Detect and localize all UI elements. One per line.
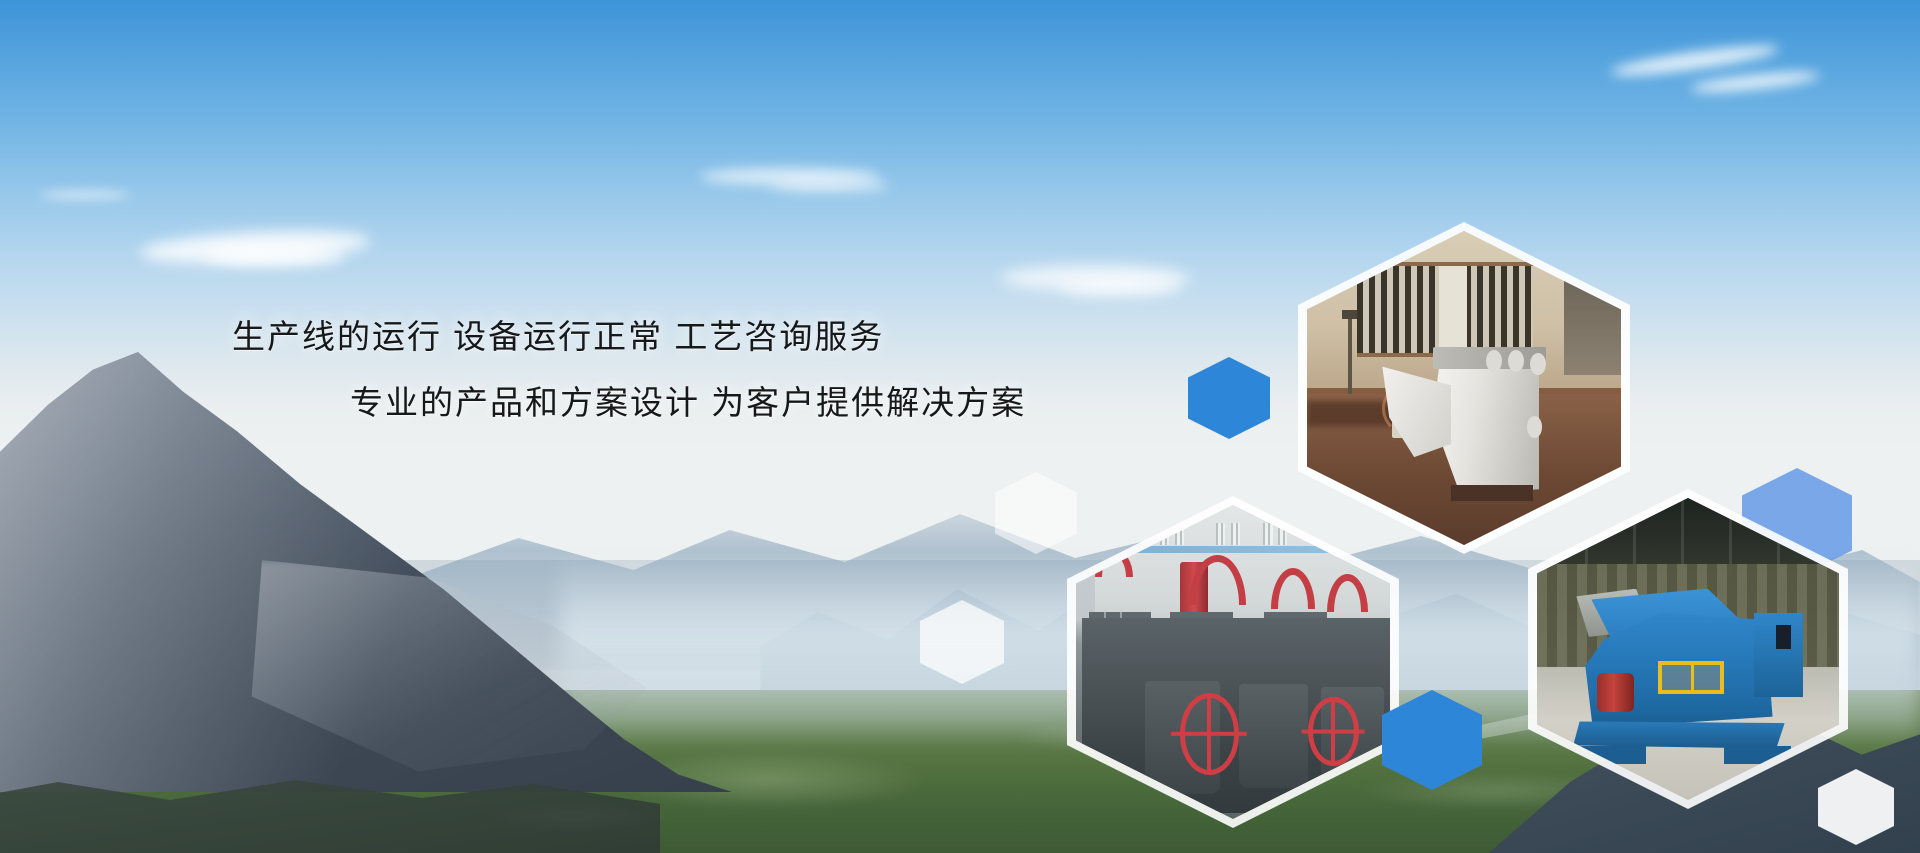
housing-window	[1776, 625, 1791, 649]
cloud	[1060, 278, 1180, 296]
hero-banner: 生产线的运行 设备运行正常 工艺咨询服务 专业的产品和方案设计 为客户提供解决方…	[0, 0, 1920, 853]
yellow-safety-railing-bar	[1691, 661, 1694, 694]
red-handwheel	[1180, 693, 1240, 775]
workshop-window	[1216, 523, 1225, 545]
workshop-window	[1263, 523, 1272, 545]
ladle-fitting	[1486, 350, 1502, 372]
yard-pole-head	[1342, 310, 1358, 319]
yard-pole	[1348, 316, 1352, 398]
red-handwheel	[1308, 697, 1358, 766]
cloud	[770, 180, 890, 192]
mixer-drum	[1239, 684, 1308, 788]
ladle-fitting	[1508, 350, 1524, 372]
cloud	[40, 190, 130, 200]
cloud	[205, 246, 345, 266]
ladle-fitting	[1530, 353, 1546, 375]
machine-base-frame	[1573, 721, 1784, 748]
window-pane	[1439, 266, 1467, 354]
workshop-window	[1231, 523, 1240, 545]
ladle-base-block	[1451, 485, 1533, 501]
red-motor-unit	[1597, 673, 1633, 712]
